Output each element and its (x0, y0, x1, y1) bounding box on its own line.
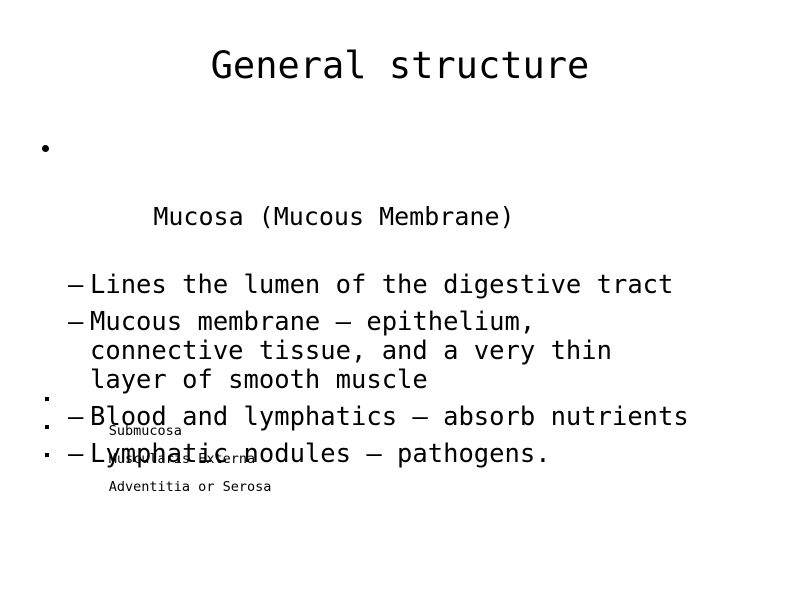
list-item-label: Mucosa (Mucous Membrane) (153, 202, 514, 231)
bullet-square-icon (45, 453, 49, 457)
bullet-square-icon (45, 425, 49, 429)
list-item: Adventitia or Serosa (38, 447, 438, 475)
list-item: Submucosa (38, 391, 438, 419)
slide-body-secondary: Submucosa Muscularis Externa Adventitia … (38, 391, 438, 475)
bullet-dash-icon: – (68, 271, 83, 300)
bullet-dot-icon (42, 145, 49, 152)
list-item: Mucosa (Mucous Membrane) (38, 132, 778, 268)
list-item: Muscularis Externa (38, 419, 438, 447)
list-item-label: Lines the lumen of the digestive tract (90, 271, 778, 300)
list-item: – Lines the lumen of the digestive tract (38, 271, 778, 300)
list-item-label: Mucous membrane – epithelium, connective… (90, 308, 778, 395)
list-item-label: Adventitia or Serosa (109, 479, 272, 495)
slide-canvas: General structure Mucosa (Mucous Membran… (0, 0, 800, 600)
bullet-square-icon (45, 397, 49, 401)
page-title: General structure (0, 44, 800, 88)
list-item: – Mucous membrane – epithelium, connecti… (38, 308, 778, 395)
bullet-dash-icon: – (68, 308, 83, 337)
